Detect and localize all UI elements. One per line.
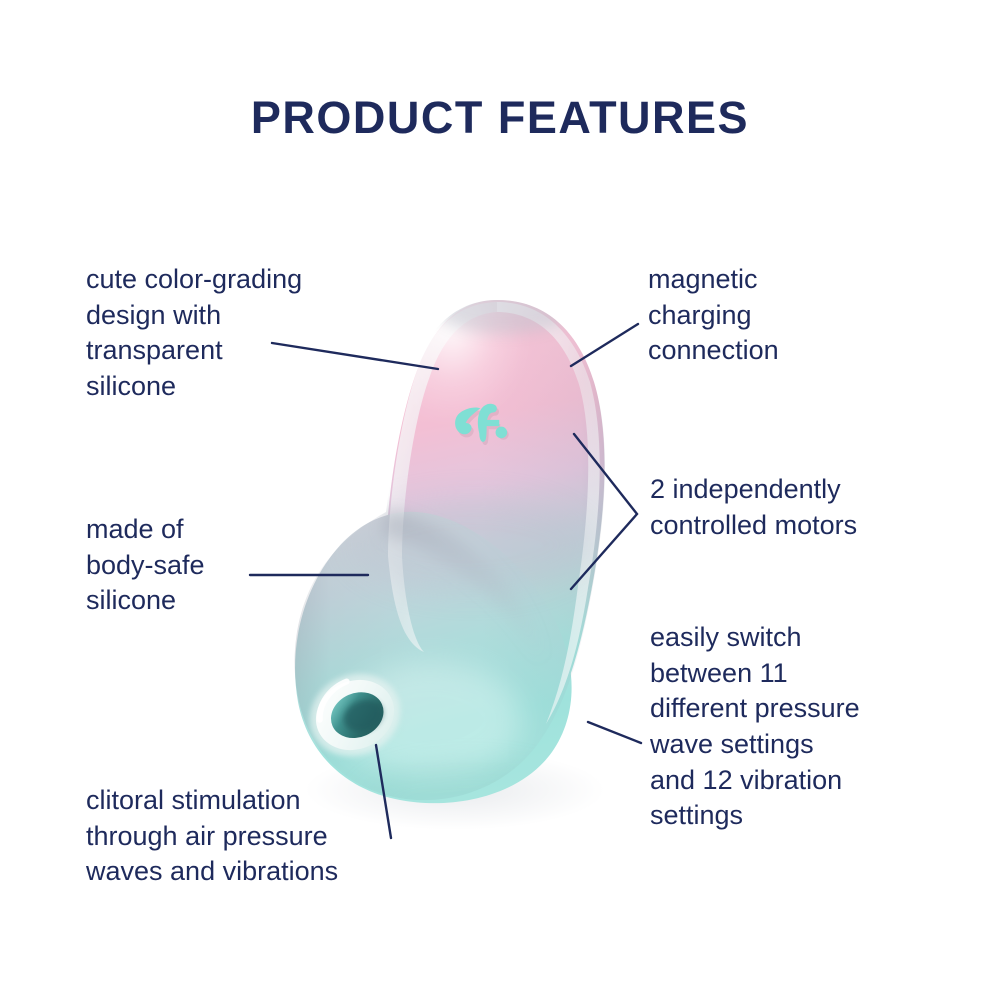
callout-body-safe-silicone: made of body-safe silicone <box>86 512 366 619</box>
callout-independent-motors: 2 independently controlled motors <box>650 472 940 543</box>
page-title: PRODUCT FEATURES <box>0 92 1000 144</box>
product-midband-shade <box>350 497 590 593</box>
infographic-canvas: PRODUCT FEATURES cute color-grading desi… <box>0 0 1000 1000</box>
callout-pressure-vibration-settings: easily switch between 11 different press… <box>650 620 940 834</box>
product-top-shade <box>435 282 575 334</box>
callout-cute-color-grading-design: cute color-grading design with transpare… <box>86 262 386 405</box>
callout-magnetic-charging: magnetic charging connection <box>648 262 948 369</box>
callout-clitoral-stimulation: clitoral stimulation through air pressur… <box>86 783 416 890</box>
